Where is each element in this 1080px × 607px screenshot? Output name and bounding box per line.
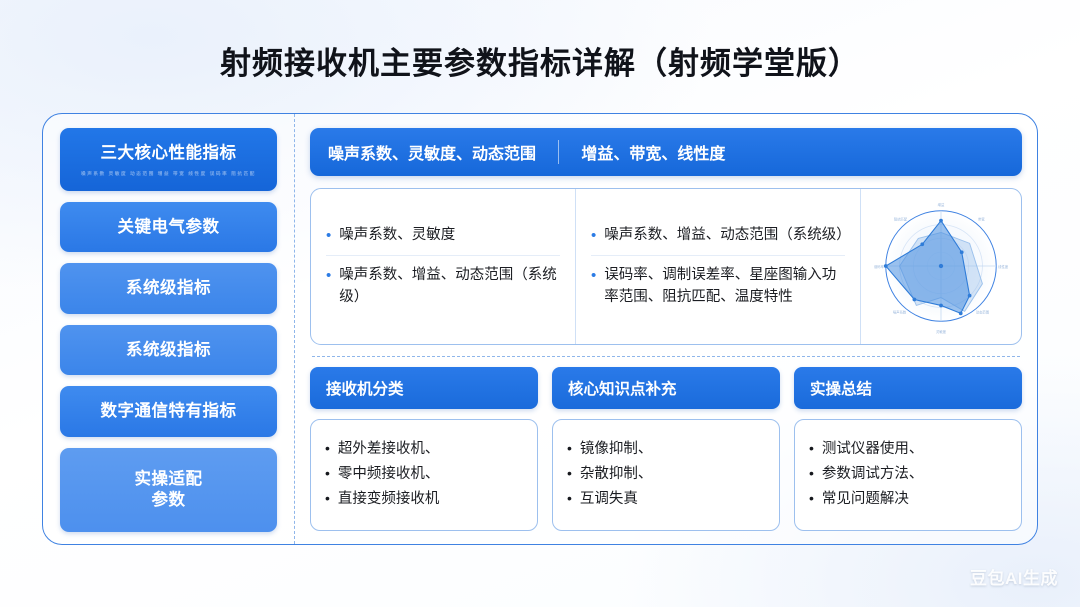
list-item: • 直接变频接收机 <box>325 489 523 511</box>
list-item-text: 参数调试方法、 <box>822 464 924 486</box>
svg-text:噪声系数: 噪声系数 <box>893 309 907 314</box>
main-board: 三大核心性能指标 噪声系数 灵敏度 动态范围 增益 带宽 线性度 误码率 阻抗匹… <box>42 113 1038 545</box>
card-practical-summary: 实操总结 • 测试仪器使用、 • 参数调试方法、 • 常见问题解决 <box>794 367 1022 531</box>
bullet-dot-icon: • <box>567 489 572 511</box>
sidebar-item-core-metrics[interactable]: 三大核心性能指标 噪声系数 灵敏度 动态范围 增益 带宽 线性度 误码率 阻抗匹… <box>60 128 277 191</box>
bullet-dot-icon: • <box>809 489 814 511</box>
bullet-dot-icon: • <box>326 225 331 246</box>
list-item-text: 零中频接收机、 <box>338 464 440 486</box>
bullet-dot-icon: • <box>325 439 330 461</box>
bullet-dot-icon: • <box>325 489 330 511</box>
card-receiver-types: 接收机分类 • 超外差接收机、 • 零中频接收机、 • 直接变频接收机 <box>310 367 538 531</box>
svg-text:动态范围: 动态范围 <box>976 309 990 314</box>
bottom-section: 接收机分类 • 超外差接收机、 • 零中频接收机、 • 直接变频接收机 <box>310 367 1022 531</box>
upper-panel: • 噪声系数、灵敏度 • 噪声系数、增益、动态范围（系统级） • 噪声系数、增益… <box>310 188 1022 345</box>
svg-text:灵敏度: 灵敏度 <box>936 329 947 334</box>
header-strip: 噪声系数、灵敏度、动态范围 增益、带宽、线性度 <box>310 128 1022 176</box>
content-area: 噪声系数、灵敏度、动态范围 增益、带宽、线性度 • 噪声系数、灵敏度 • 噪声系… <box>295 114 1037 544</box>
list-item: • 噪声系数、增益、动态范围（系统级） <box>326 255 560 316</box>
bullet-list: • 噪声系数、增益、动态范围（系统级） • 误码率、调制误差率、星座图输入功率范… <box>591 216 845 316</box>
header-strip-divider <box>558 140 559 164</box>
card-body: • 测试仪器使用、 • 参数调试方法、 • 常见问题解决 <box>794 419 1022 531</box>
card-title: 核心知识点补充 <box>552 367 780 409</box>
list-item-text: 噪声系数、增益、动态范围（系统级） <box>604 225 845 246</box>
list-item: • 噪声系数、增益、动态范围（系统级） <box>591 216 845 255</box>
list-item-text: 误码率、调制误差率、星座图输入功率范围、阻抗匹配、温度特性 <box>604 265 845 307</box>
bullet-dot-icon: • <box>567 439 572 461</box>
radar-chart: 增益 带宽 线性度 动态范围 灵敏度 噪声系数 误码率 阻抗匹配 <box>866 195 1016 338</box>
bullet-dot-icon: • <box>591 265 596 307</box>
card-body: • 超外差接收机、 • 零中频接收机、 • 直接变频接收机 <box>310 419 538 531</box>
svg-text:增益: 增益 <box>938 202 945 207</box>
bullet-dot-icon: • <box>325 464 330 486</box>
list-item-text: 互调失真 <box>580 489 638 511</box>
page-title: 射频接收机主要参数指标详解（射频学堂版） <box>0 38 1080 83</box>
bullet-dot-icon: • <box>809 464 814 486</box>
list-item: • 镜像抑制、 <box>567 439 765 461</box>
sidebar-item-label: 三大核心性能指标 <box>101 143 237 164</box>
sidebar-item-system-metrics-2[interactable]: 系统级指标 <box>60 325 277 375</box>
card-title: 实操总结 <box>794 367 1022 409</box>
list-item: • 参数调试方法、 <box>809 464 1007 486</box>
list-item-text: 常见问题解决 <box>822 489 909 511</box>
card-body: • 镜像抑制、 • 杂散抑制、 • 互调失真 <box>552 419 780 531</box>
bullet-dot-icon: • <box>326 265 331 307</box>
list-item: • 噪声系数、灵敏度 <box>326 216 560 255</box>
bullet-dot-icon: • <box>567 464 572 486</box>
panel-column-chart: 增益 带宽 线性度 动态范围 灵敏度 噪声系数 误码率 阻抗匹配 <box>861 189 1021 344</box>
list-item-text: 镜像抑制、 <box>580 439 653 461</box>
section-divider <box>312 356 1020 357</box>
panel-column-mid: • 噪声系数、增益、动态范围（系统级） • 误码率、调制误差率、星座图输入功率范… <box>576 189 861 344</box>
svg-text:线性度: 线性度 <box>998 264 1009 269</box>
list-item-text: 噪声系数、增益、动态范围（系统级） <box>339 265 560 307</box>
sidebar-item-practical-params[interactable]: 实操适配 参数 <box>60 448 277 532</box>
bullet-dot-icon: • <box>591 225 596 246</box>
list-item: • 误码率、调制误差率、星座图输入功率范围、阻抗匹配、温度特性 <box>591 255 845 316</box>
sidebar-item-label: 系统级指标 <box>126 278 211 299</box>
card-core-knowledge: 核心知识点补充 • 镜像抑制、 • 杂散抑制、 • 互调失真 <box>552 367 780 531</box>
list-item: • 互调失真 <box>567 489 765 511</box>
sidebar-item-digital-comm-metrics[interactable]: 数字通信特有指标 <box>60 386 277 436</box>
svg-text:阻抗匹配: 阻抗匹配 <box>894 217 908 222</box>
sidebar: 三大核心性能指标 噪声系数 灵敏度 动态范围 增益 带宽 线性度 误码率 阻抗匹… <box>43 114 295 544</box>
sidebar-item-system-metrics-1[interactable]: 系统级指标 <box>60 263 277 313</box>
list-item: • 测试仪器使用、 <box>809 439 1007 461</box>
list-item-text: 测试仪器使用、 <box>822 439 924 461</box>
panel-column-left: • 噪声系数、灵敏度 • 噪声系数、增益、动态范围（系统级） <box>311 189 576 344</box>
sidebar-item-label: 数字通信特有指标 <box>101 401 237 422</box>
list-item-text: 杂散抑制、 <box>580 464 653 486</box>
card-title: 接收机分类 <box>310 367 538 409</box>
watermark: 豆包AI生成 <box>970 564 1058 589</box>
sidebar-item-label: 关键电气参数 <box>118 217 220 238</box>
sidebar-item-label: 系统级指标 <box>126 340 211 361</box>
list-item-text: 超外差接收机、 <box>338 439 440 461</box>
list-item: • 零中频接收机、 <box>325 464 523 486</box>
svg-text:带宽: 带宽 <box>978 217 985 222</box>
svg-text:误码率: 误码率 <box>874 264 885 269</box>
list-item-text: 噪声系数、灵敏度 <box>339 225 455 246</box>
list-item: • 杂散抑制、 <box>567 464 765 486</box>
bullet-list: • 噪声系数、灵敏度 • 噪声系数、增益、动态范围（系统级） <box>326 216 560 316</box>
header-strip-left-label: 噪声系数、灵敏度、动态范围 <box>328 140 536 164</box>
list-item: • 超外差接收机、 <box>325 439 523 461</box>
sidebar-item-label-line2: 参数 <box>152 490 186 511</box>
sidebar-item-electrical-params[interactable]: 关键电气参数 <box>60 202 277 252</box>
sidebar-item-label-line1: 实操适配 <box>135 469 203 490</box>
list-item: • 常见问题解决 <box>809 489 1007 511</box>
header-strip-right-label: 增益、带宽、线性度 <box>581 140 725 164</box>
list-item-text: 直接变频接收机 <box>338 489 440 511</box>
bullet-dot-icon: • <box>809 439 814 461</box>
sidebar-item-subtitle: 噪声系数 灵敏度 动态范围 增益 带宽 线性度 误码率 阻抗匹配 <box>81 171 256 177</box>
